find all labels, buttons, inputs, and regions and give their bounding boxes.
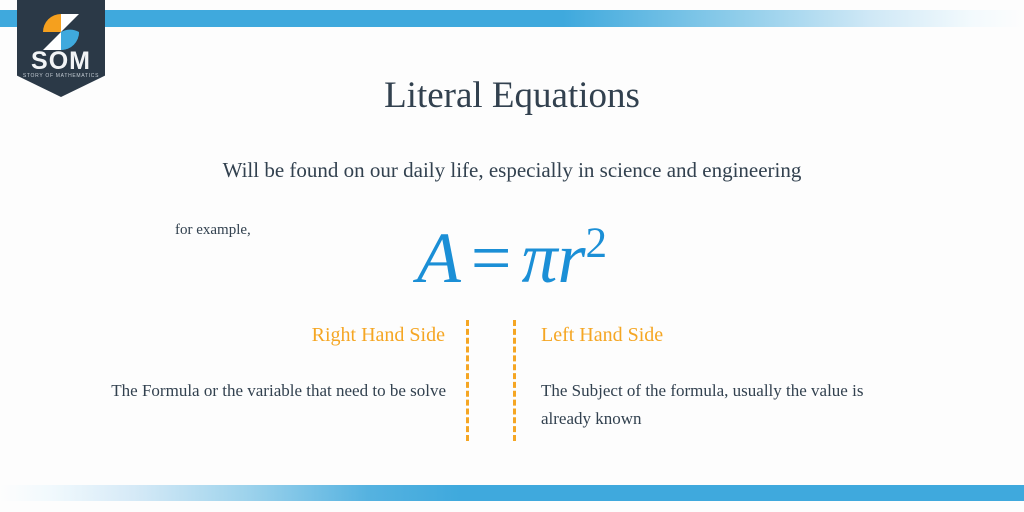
equation-left-variable: A: [417, 218, 461, 298]
equation-pi-symbol: π: [521, 218, 557, 298]
equation-operator: =: [471, 218, 512, 298]
page-title: Literal Equations: [0, 76, 1024, 117]
description-right-hand-side: The Formula or the variable that need to…: [106, 377, 446, 405]
description-left-hand-side: The Subject of the formula, usually the …: [541, 377, 886, 433]
logo-wordmark: SOM: [17, 49, 105, 74]
equation-radius-variable: r: [558, 218, 586, 298]
subtitle-text: Will be found on our daily life, especia…: [0, 158, 1024, 183]
top-accent-bar: [0, 10, 1024, 27]
divider-dashed-left: [466, 320, 469, 441]
divider-dashed-right: [513, 320, 516, 441]
equation-exponent: 2: [586, 220, 608, 267]
bottom-accent-bar: [0, 485, 1024, 501]
slide-canvas: SOM STORY OF MATHEMATICS Literal Equatio…: [0, 0, 1024, 512]
label-left-hand-side: Left Hand Side: [541, 323, 841, 347]
label-right-hand-side: Right Hand Side: [180, 323, 445, 347]
equation-display: A=πr2: [0, 222, 1024, 294]
